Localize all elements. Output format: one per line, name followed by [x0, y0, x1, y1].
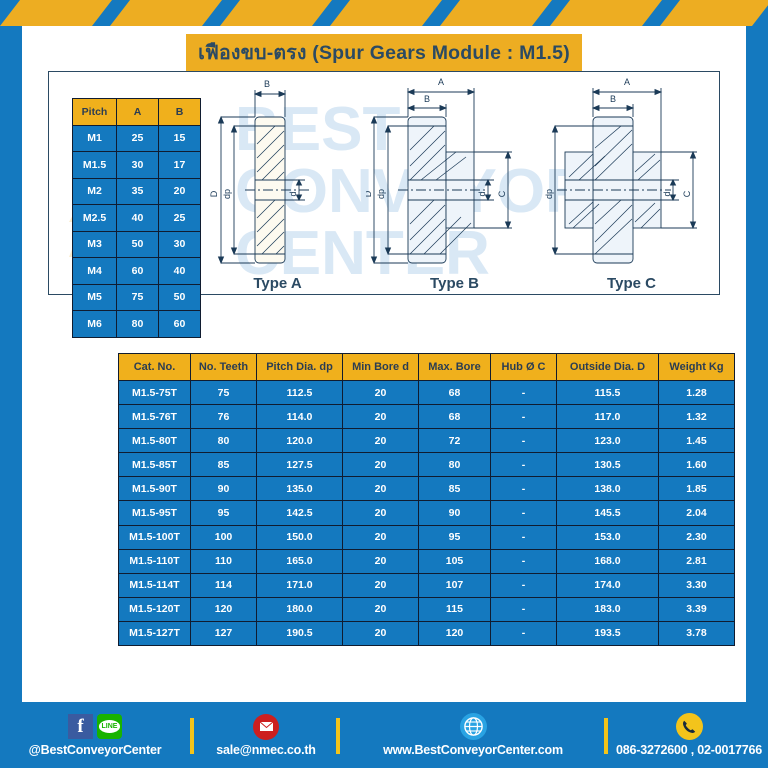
- cell-pitch-dia: 142.5: [257, 501, 343, 525]
- cell-no-teeth: 110: [191, 549, 257, 573]
- pitch-table-row: M46040: [73, 258, 201, 285]
- cell-outside-dia: 193.5: [557, 621, 659, 645]
- cell-no-teeth: 127: [191, 621, 257, 645]
- pitch-cell-pitch: M2: [73, 178, 117, 205]
- svg-text:C: C: [682, 190, 692, 197]
- svg-text:D: D: [209, 190, 219, 197]
- footer-divider-3: [604, 718, 608, 754]
- contact-footer: f LINE @BestConveyorCenter sale@nmec.co.…: [0, 702, 768, 768]
- cell-weight: 2.81: [659, 549, 735, 573]
- svg-text:dp: dp: [222, 189, 232, 199]
- pitch-cell-a: 75: [117, 284, 159, 311]
- figure-label-c: Type C: [543, 275, 720, 292]
- cell-max-bore: 95: [419, 525, 491, 549]
- svg-text:B: B: [424, 94, 430, 104]
- pitch-cell-a: 80: [117, 311, 159, 338]
- cell-weight: 1.60: [659, 453, 735, 477]
- pitch-table-row: M23520: [73, 178, 201, 205]
- cell-outside-dia: 117.0: [557, 405, 659, 429]
- cell-cat-no: M1.5-75T: [119, 381, 191, 405]
- cell-cat-no: M1.5-80T: [119, 429, 191, 453]
- table-row: M1.5-100T100150.02095-153.02.30: [119, 525, 735, 549]
- cell-outside-dia: 138.0: [557, 477, 659, 501]
- page-title-wrap: เฟืองขบ-ตรง (Spur Gears Module : M1.5): [22, 34, 746, 72]
- website-url: www.BestConveyorCenter.com: [383, 743, 563, 757]
- cell-cat-no: M1.5-127T: [119, 621, 191, 645]
- data-table-header-row: Cat. No. No. Teeth Pitch Dia. dp Min Bor…: [119, 354, 735, 381]
- pitch-cell-b: 20: [159, 178, 201, 205]
- cell-weight: 3.30: [659, 573, 735, 597]
- cell-weight: 1.32: [659, 405, 735, 429]
- cell-max-bore: 107: [419, 573, 491, 597]
- pitch-table: Pitch A B M12515M1.53017M23520M2.54025M3…: [72, 98, 201, 338]
- cell-hub-dia: -: [491, 381, 557, 405]
- cell-no-teeth: 120: [191, 597, 257, 621]
- pitch-table-row: M1.53017: [73, 152, 201, 179]
- pitch-cell-a: 60: [117, 258, 159, 285]
- cell-cat-no: M1.5-95T: [119, 501, 191, 525]
- cell-outside-dia: 130.5: [557, 453, 659, 477]
- cell-hub-dia: -: [491, 453, 557, 477]
- header-cat-no: Cat. No.: [119, 354, 191, 381]
- cell-max-bore: 105: [419, 549, 491, 573]
- pitch-cell-pitch: M3: [73, 231, 117, 258]
- cell-outside-dia: 168.0: [557, 549, 659, 573]
- header-weight: Weight Kg: [659, 354, 735, 381]
- cell-hub-dia: -: [491, 621, 557, 645]
- cell-weight: 2.30: [659, 525, 735, 549]
- table-row: M1.5-110T110165.020105-168.02.81: [119, 549, 735, 573]
- svg-text:d: d: [662, 191, 672, 196]
- table-row: M1.5-120T120180.020115-183.03.39: [119, 597, 735, 621]
- cell-no-teeth: 80: [191, 429, 257, 453]
- cell-weight: 1.45: [659, 429, 735, 453]
- cell-no-teeth: 75: [191, 381, 257, 405]
- cell-pitch-dia: 190.5: [257, 621, 343, 645]
- pitch-table-row: M68060: [73, 311, 201, 338]
- cell-weight: 1.28: [659, 381, 735, 405]
- cell-hub-dia: -: [491, 597, 557, 621]
- line-icon-label: LINE: [99, 720, 121, 733]
- pitch-cell-a: 30: [117, 152, 159, 179]
- table-row: M1.5-95T95142.52090-145.52.04: [119, 501, 735, 525]
- header-outside-dia: Outside Dia. D: [557, 354, 659, 381]
- figure-label-b: Type B: [366, 275, 543, 292]
- cell-max-bore: 90: [419, 501, 491, 525]
- svg-text:dp: dp: [544, 189, 554, 199]
- gear-figures: B D dp d Type A: [189, 72, 720, 295]
- envelope-icon[interactable]: [253, 714, 279, 740]
- pitch-cell-a: 25: [117, 125, 159, 152]
- cell-no-teeth: 85: [191, 453, 257, 477]
- cell-cat-no: M1.5-85T: [119, 453, 191, 477]
- cell-min-bore: 20: [343, 453, 419, 477]
- cell-weight: 3.39: [659, 597, 735, 621]
- cell-hub-dia: -: [491, 477, 557, 501]
- pitch-cell-a: 50: [117, 231, 159, 258]
- cell-no-teeth: 100: [191, 525, 257, 549]
- cell-outside-dia: 115.5: [557, 381, 659, 405]
- line-icon[interactable]: LINE: [97, 714, 122, 739]
- facebook-icon[interactable]: f: [68, 714, 93, 739]
- footer-phone[interactable]: 086-3272600 , 02-0017766: [610, 702, 768, 768]
- cell-min-bore: 20: [343, 429, 419, 453]
- cell-hub-dia: -: [491, 501, 557, 525]
- pitch-table-row: M35030: [73, 231, 201, 258]
- svg-text:A: A: [438, 77, 444, 87]
- pitch-header-pitch: Pitch: [73, 99, 117, 126]
- cell-pitch-dia: 135.0: [257, 477, 343, 501]
- pitch-cell-b: 40: [159, 258, 201, 285]
- pitch-cell-b: 60: [159, 311, 201, 338]
- phone-icon[interactable]: [676, 713, 703, 740]
- cell-max-bore: 72: [419, 429, 491, 453]
- cell-min-bore: 20: [343, 573, 419, 597]
- cell-no-teeth: 95: [191, 501, 257, 525]
- pitch-cell-b: 50: [159, 284, 201, 311]
- pitch-cell-pitch: M1.5: [73, 152, 117, 179]
- pitch-cell-pitch: M5: [73, 284, 117, 311]
- cell-pitch-dia: 171.0: [257, 573, 343, 597]
- cell-outside-dia: 174.0: [557, 573, 659, 597]
- table-row: M1.5-127T127190.520120-193.53.78: [119, 621, 735, 645]
- cell-pitch-dia: 114.0: [257, 405, 343, 429]
- cell-min-bore: 20: [343, 621, 419, 645]
- page-title: เฟืองขบ-ตรง (Spur Gears Module : M1.5): [186, 34, 582, 72]
- cell-pitch-dia: 150.0: [257, 525, 343, 549]
- cell-min-bore: 20: [343, 597, 419, 621]
- pitch-cell-a: 35: [117, 178, 159, 205]
- cell-outside-dia: 183.0: [557, 597, 659, 621]
- cell-min-bore: 20: [343, 549, 419, 573]
- cell-outside-dia: 153.0: [557, 525, 659, 549]
- cell-max-bore: 85: [419, 477, 491, 501]
- svg-text:B: B: [264, 79, 270, 89]
- cell-cat-no: M1.5-76T: [119, 405, 191, 429]
- table-row: M1.5-75T75112.52068-115.51.28: [119, 381, 735, 405]
- pitch-table-header-row: Pitch A B: [73, 99, 201, 126]
- cell-max-bore: 115: [419, 597, 491, 621]
- pitch-cell-pitch: M1: [73, 125, 117, 152]
- cell-outside-dia: 123.0: [557, 429, 659, 453]
- cell-pitch-dia: 120.0: [257, 429, 343, 453]
- cell-no-teeth: 114: [191, 573, 257, 597]
- cell-max-bore: 120: [419, 621, 491, 645]
- pitch-cell-pitch: M4: [73, 258, 117, 285]
- pitch-cell-b: 30: [159, 231, 201, 258]
- figure-type-c: A B dp d C Type C: [543, 72, 720, 295]
- pitch-table-row: M2.54025: [73, 205, 201, 232]
- cell-weight: 1.85: [659, 477, 735, 501]
- pitch-cell-a: 40: [117, 205, 159, 232]
- cell-pitch-dia: 127.5: [257, 453, 343, 477]
- table-row: M1.5-85T85127.52080-130.51.60: [119, 453, 735, 477]
- svg-text:dp: dp: [376, 189, 386, 199]
- svg-text:d: d: [477, 191, 487, 196]
- cell-min-bore: 20: [343, 501, 419, 525]
- pitch-header-a: A: [117, 99, 159, 126]
- cell-min-bore: 20: [343, 477, 419, 501]
- footer-email[interactable]: sale@nmec.co.th: [196, 702, 336, 768]
- phone-numbers: 086-3272600 , 02-0017766: [616, 743, 762, 757]
- cell-cat-no: M1.5-114T: [119, 573, 191, 597]
- cell-hub-dia: -: [491, 573, 557, 597]
- cell-hub-dia: -: [491, 549, 557, 573]
- cell-min-bore: 20: [343, 405, 419, 429]
- cell-hub-dia: -: [491, 429, 557, 453]
- cell-hub-dia: -: [491, 405, 557, 429]
- footer-website[interactable]: www.BestConveyorCenter.com: [342, 702, 604, 768]
- footer-social[interactable]: f LINE @BestConveyorCenter: [0, 702, 190, 768]
- svg-text:C: C: [497, 190, 507, 197]
- cell-weight: 3.78: [659, 621, 735, 645]
- pitch-header-b: B: [159, 99, 201, 126]
- pitch-table-row: M12515: [73, 125, 201, 152]
- table-row: M1.5-80T80120.02072-123.01.45: [119, 429, 735, 453]
- header-pitch-dia: Pitch Dia. dp: [257, 354, 343, 381]
- table-row: M1.5-114T114171.020107-174.03.30: [119, 573, 735, 597]
- cell-pitch-dia: 112.5: [257, 381, 343, 405]
- content-panel: เฟืองขบ-ตรง (Spur Gears Module : M1.5) B…: [22, 26, 746, 702]
- email-address: sale@nmec.co.th: [216, 743, 316, 757]
- cell-cat-no: M1.5-120T: [119, 597, 191, 621]
- pitch-cell-b: 25: [159, 205, 201, 232]
- cell-cat-no: M1.5-100T: [119, 525, 191, 549]
- svg-text:d: d: [288, 191, 298, 196]
- table-row: M1.5-76T76114.02068-117.01.32: [119, 405, 735, 429]
- cell-hub-dia: -: [491, 525, 557, 549]
- cell-pitch-dia: 165.0: [257, 549, 343, 573]
- table-row: M1.5-90T90135.02085-138.01.85: [119, 477, 735, 501]
- pitch-cell-pitch: M2.5: [73, 205, 117, 232]
- header-no-teeth: No. Teeth: [191, 354, 257, 381]
- cell-max-bore: 80: [419, 453, 491, 477]
- pitch-table-row: M57550: [73, 284, 201, 311]
- cell-no-teeth: 76: [191, 405, 257, 429]
- cell-min-bore: 20: [343, 381, 419, 405]
- svg-text:A: A: [624, 77, 630, 87]
- cell-cat-no: M1.5-110T: [119, 549, 191, 573]
- figure-type-a: B D dp d Type A: [189, 72, 366, 295]
- footer-divider-2: [336, 718, 340, 754]
- svg-text:D: D: [366, 190, 373, 197]
- cell-max-bore: 68: [419, 381, 491, 405]
- cell-pitch-dia: 180.0: [257, 597, 343, 621]
- footer-divider-1: [190, 718, 194, 754]
- cell-cat-no: M1.5-90T: [119, 477, 191, 501]
- cell-max-bore: 68: [419, 405, 491, 429]
- header-hub-dia: Hub Ø C: [491, 354, 557, 381]
- header-max-bore: Max. Bore: [419, 354, 491, 381]
- header-min-bore: Min Bore d: [343, 354, 419, 381]
- top-chevron-band: [0, 0, 768, 26]
- cell-outside-dia: 145.5: [557, 501, 659, 525]
- facebook-handle: @BestConveyorCenter: [29, 743, 162, 757]
- cell-no-teeth: 90: [191, 477, 257, 501]
- figure-label-a: Type A: [189, 275, 366, 292]
- pitch-cell-b: 15: [159, 125, 201, 152]
- spur-gear-data-table: Cat. No. No. Teeth Pitch Dia. dp Min Bor…: [118, 353, 735, 646]
- svg-text:B: B: [610, 94, 616, 104]
- cell-min-bore: 20: [343, 525, 419, 549]
- datasheet-page: เฟืองขบ-ตรง (Spur Gears Module : M1.5) B…: [0, 0, 768, 768]
- pitch-cell-pitch: M6: [73, 311, 117, 338]
- globe-icon[interactable]: [460, 713, 487, 740]
- cell-weight: 2.04: [659, 501, 735, 525]
- figure-type-b: A B D dp d C Type B: [366, 72, 543, 295]
- pitch-cell-b: 17: [159, 152, 201, 179]
